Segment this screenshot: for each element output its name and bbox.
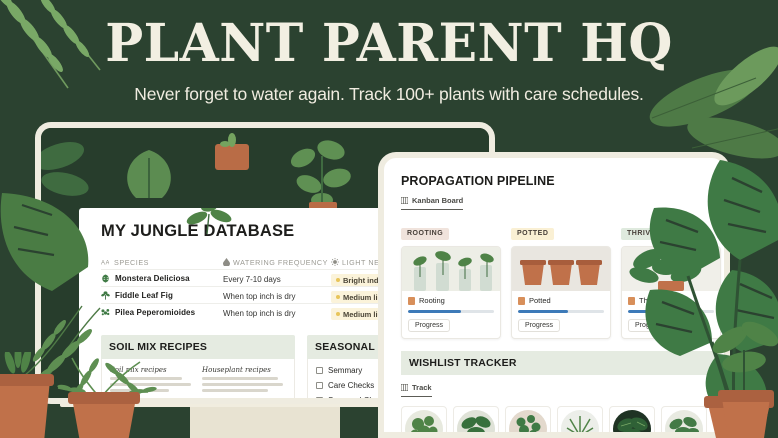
progress-tag[interactable]: Progress <box>628 319 670 332</box>
species-name: Monstera Deliciosa <box>115 274 190 283</box>
progress-fill <box>628 310 684 313</box>
plant-thumb-4 <box>561 410 599 438</box>
recipe-entry[interactable]: Soil mix recipes <box>110 366 194 398</box>
card-label-row: Potted <box>518 296 604 305</box>
kanban-columns: ROOTING <box>401 222 724 339</box>
terracotta-pots-photo <box>512 247 610 291</box>
progress-tag[interactable]: Progress <box>408 319 450 332</box>
plant-thumb-3 <box>509 410 547 438</box>
wishlist-grid <box>401 406 724 438</box>
sprig-icon <box>179 208 237 236</box>
card-label-row: Rooting <box>408 296 494 305</box>
light-dot-icon <box>336 278 340 282</box>
kanban-card[interactable]: Thriving Progress <box>621 246 721 339</box>
fig-leaf-icon <box>101 291 110 300</box>
recipe-heading: Soil mix recipes <box>110 366 194 374</box>
tablet-device: PROPAGATION PIPELINE Kanban Board ROOTIN… <box>378 152 730 438</box>
thriving-plant-photo <box>622 247 720 291</box>
progress-bar <box>518 310 604 313</box>
species-name: Fiddle Leaf Fig <box>115 291 173 300</box>
progress-fill <box>408 310 461 313</box>
light-dot-icon <box>336 295 340 299</box>
watering-frequency: When top inch is dry <box>223 292 295 301</box>
progress-fill <box>518 310 568 313</box>
soil-mix-body: Soil mix recipes Houseplant recipes <box>101 359 295 398</box>
column-badge[interactable]: POTTED <box>511 228 554 240</box>
wishlist-item[interactable] <box>557 406 603 438</box>
kanban-column-potted: POTTED <box>511 222 611 339</box>
soil-mix-title: SOIL MIX RECIPES <box>101 335 295 359</box>
checkbox-icon[interactable] <box>316 367 323 374</box>
tab-track[interactable]: Track <box>401 383 432 397</box>
plant-thumb-2 <box>457 410 495 438</box>
column-header-watering[interactable]: WATERING FREQUENCY <box>223 258 331 267</box>
page-icon <box>628 297 635 305</box>
kanban-column-rooting: ROOTING <box>401 222 501 339</box>
pilea-leaf-icon <box>101 308 110 317</box>
recipe-heading: Houseplant recipes <box>202 366 286 374</box>
progress-bar <box>408 310 494 313</box>
grid-board-icon <box>401 384 408 391</box>
kanban-card[interactable]: Potted Progress <box>511 246 611 339</box>
watering-frequency: Every 7-10 days <box>223 275 281 284</box>
progress-bar <box>628 310 714 313</box>
page-subtitle: Never forget to water again. Track 100+ … <box>0 84 778 105</box>
kanban-title: PROPAGATION PIPELINE <box>401 174 724 188</box>
tab-kanban-board[interactable]: Kanban Board <box>401 196 463 210</box>
plant-thumb-5 <box>613 410 651 438</box>
card-label-row: Thriving <box>628 296 714 305</box>
column-badge[interactable]: THRIVING <box>621 228 670 240</box>
wishlist-item[interactable] <box>401 406 447 438</box>
light-dot-icon <box>336 312 340 316</box>
kanban-column-thriving: THRIVING <box>621 222 721 339</box>
svg-text:Aa: Aa <box>101 260 109 266</box>
column-header-species[interactable]: Aa SPECIES <box>101 258 223 267</box>
page-title: PLANT PARENT HQ <box>12 18 767 70</box>
wishlist-item[interactable] <box>505 406 551 438</box>
sun-icon <box>331 258 339 266</box>
column-badge[interactable]: ROOTING <box>401 228 449 240</box>
monitor-stand <box>190 404 340 438</box>
kanban-card[interactable]: Rooting Progress <box>401 246 501 339</box>
poster-header: PLANT PARENT HQ Never forget to water ag… <box>0 0 778 122</box>
text-aa-icon: Aa <box>101 258 109 266</box>
plant-thumb-1 <box>405 410 443 438</box>
grid-board-icon <box>401 197 408 204</box>
progress-tag[interactable]: Progress <box>518 319 560 332</box>
monstera-leaf-icon <box>101 274 110 283</box>
wishlist-item[interactable] <box>661 406 707 438</box>
wishlist-item[interactable] <box>609 406 655 438</box>
page-icon <box>408 297 415 305</box>
wishlist-item[interactable] <box>453 406 499 438</box>
plant-thumb-6 <box>665 410 703 438</box>
propagation-jars-photo <box>402 247 500 291</box>
droplet-icon <box>223 258 230 266</box>
page-icon <box>518 297 525 305</box>
checkbox-icon[interactable] <box>316 397 323 398</box>
watering-frequency: When top inch is dry <box>223 309 295 318</box>
species-name: Pilea Peperomioides <box>115 308 195 317</box>
checkbox-icon[interactable] <box>316 382 323 389</box>
soil-mix-card: SOIL MIX RECIPES Soil mix recipes Housep… <box>101 335 295 398</box>
wishlist-title: WISHLIST TRACKER <box>401 351 719 375</box>
poster-canvas: PLANT PARENT HQ Never forget to water ag… <box>0 0 778 438</box>
recipe-entry[interactable]: Houseplant recipes <box>202 366 286 398</box>
